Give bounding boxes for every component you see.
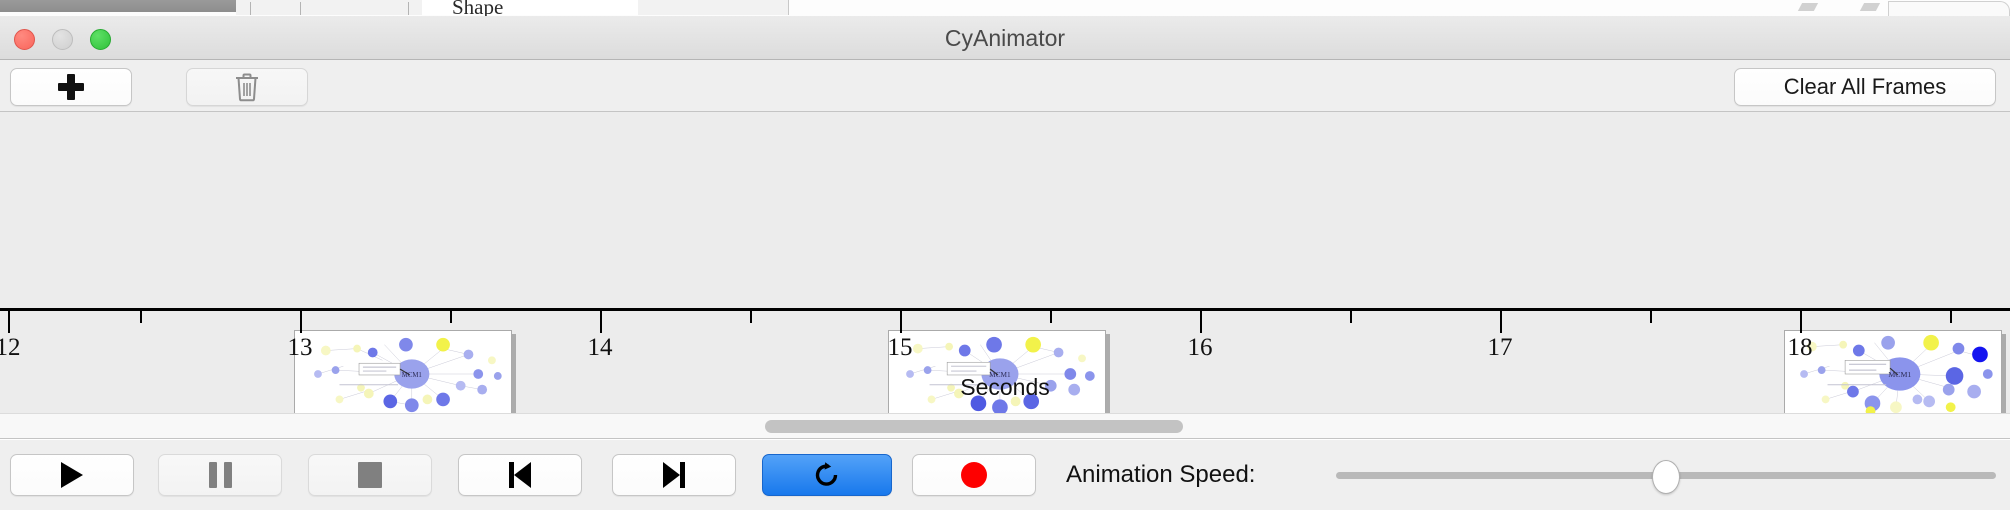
background-panel [638, 0, 789, 15]
axis-tick-label: 13 [288, 334, 313, 362]
axis-tick-major [1800, 311, 1802, 333]
background-label: Shape [452, 0, 503, 16]
axis-tick-minor [1950, 311, 1952, 323]
play-icon [61, 462, 83, 488]
axis-tick-minor [140, 311, 142, 323]
axis-tick-minor [1650, 311, 1652, 323]
playback-control-bar: Animation Speed: [0, 440, 2010, 510]
axis-title: Seconds [0, 374, 2010, 401]
delete-frame-button[interactable] [186, 68, 308, 106]
stop-button[interactable] [308, 454, 432, 496]
axis-tick-label: 15 [888, 334, 913, 362]
background-panel [518, 0, 639, 15]
axis-tick-major [1500, 311, 1502, 333]
background-tick [300, 2, 301, 15]
axis-tick-minor [750, 311, 752, 323]
timeline-scrollbar-thumb[interactable] [765, 420, 1183, 433]
window-title: CyAnimator [0, 16, 2010, 60]
record-button[interactable] [912, 454, 1036, 496]
skip-next-button[interactable] [612, 454, 736, 496]
skip-previous-icon [507, 462, 533, 488]
skip-previous-button[interactable] [458, 454, 582, 496]
stop-icon [358, 462, 382, 488]
background-tick [250, 2, 251, 15]
timeline-panel[interactable]: MCM1 [0, 112, 2010, 413]
toolbar: Clear All Frames [0, 60, 2010, 112]
pause-button[interactable] [158, 454, 282, 496]
axis-tick-minor [1050, 311, 1052, 323]
background-rounded-corner [1888, 1, 2010, 16]
plus-icon [58, 74, 84, 100]
play-button[interactable] [10, 454, 134, 496]
title-bar: CyAnimator [0, 16, 2010, 60]
add-frame-button[interactable] [10, 68, 132, 106]
axis-tick-minor [1350, 311, 1352, 323]
skip-next-icon [661, 462, 687, 488]
cyanimator-window: Shape CyAnimator Clear All Frames [0, 0, 2010, 510]
axis-tick-major [600, 311, 602, 333]
pause-icon [209, 462, 232, 488]
trash-icon [234, 72, 260, 102]
axis-tick-label: 16 [1188, 334, 1213, 362]
record-icon [961, 462, 987, 488]
axis-tick-label: 14 [588, 334, 613, 362]
background-tick [408, 2, 409, 15]
loop-icon [812, 460, 842, 490]
clear-all-frames-button[interactable]: Clear All Frames [1734, 68, 1996, 106]
slider-knob[interactable] [1652, 460, 1680, 494]
axis-tick-major [1200, 311, 1202, 333]
background-window-strip: Shape [0, 0, 2010, 16]
axis-tick-label: 12 [0, 334, 21, 362]
axis-tick-minor [450, 311, 452, 323]
axis-tick-major [300, 311, 302, 333]
background-scroll-arrow-icon [1798, 3, 1818, 11]
background-panel [236, 0, 337, 15]
background-dark-tab [0, 0, 236, 12]
loop-button[interactable] [762, 454, 892, 496]
background-panel [336, 0, 423, 15]
animation-speed-slider[interactable] [1336, 454, 1996, 496]
background-scroll-arrow-icon [1860, 3, 1880, 11]
axis-tick-label: 17 [1488, 334, 1513, 362]
axis-tick-major [900, 311, 902, 333]
axis-tick-major [8, 311, 10, 333]
axis-tick-label: 18 [1788, 334, 1813, 362]
animation-speed-label: Animation Speed: [1066, 454, 1255, 496]
